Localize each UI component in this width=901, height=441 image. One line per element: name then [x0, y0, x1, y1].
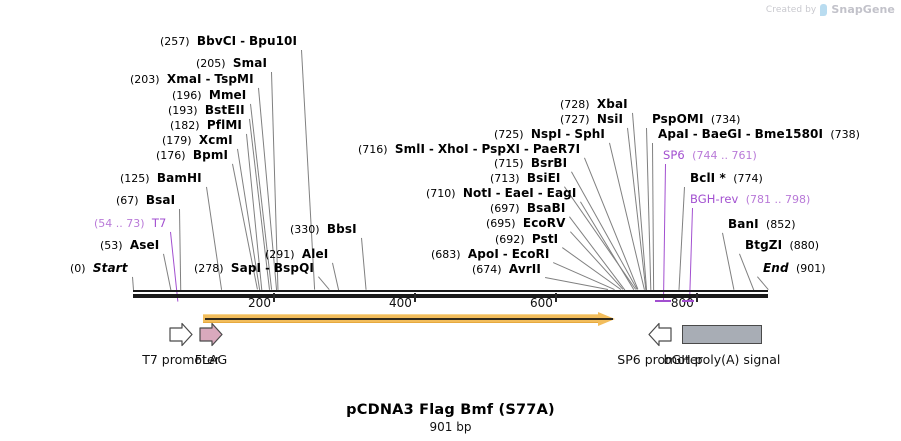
leader-line [132, 277, 134, 290]
enzyme-label-asei[interactable]: (53) AseI [100, 239, 159, 252]
watermark-prefix: Created by [766, 5, 817, 15]
leader-line [361, 238, 367, 290]
enzyme-label-avrii[interactable]: (674) AvrII [472, 263, 541, 276]
feature-caption-bgh-polya: bGH poly(A) signal [664, 352, 781, 367]
enzyme-label-nspi[interactable]: (725) NspI - SphI [494, 128, 605, 141]
ruler-tick-400 [414, 293, 417, 302]
feature-glyph-flag[interactable] [199, 322, 223, 351]
orf-centerline [205, 318, 613, 320]
enzyme-label-noti[interactable]: (710) NotI - EaeI - EagI [426, 187, 576, 200]
leader-line [652, 143, 654, 290]
enzyme-label-bamhi[interactable]: (125) BamHI [120, 172, 202, 185]
enzyme-label-ecorv[interactable]: (695) EcoRV [486, 217, 566, 230]
feature-leader-line [689, 208, 693, 302]
enzyme-label-sapi[interactable]: (278) SapI - BspQI [194, 262, 314, 275]
feature-glyph-t7-promoter[interactable] [169, 322, 193, 351]
feature-glyph-bgh-polya[interactable] [682, 325, 762, 344]
feature-leader-line [663, 164, 666, 302]
enzyme-label-bcli[interactable]: BclI * (774) [690, 172, 763, 185]
enzyme-label-start[interactable]: (0) Start [70, 262, 128, 275]
feature-label-sp6[interactable]: SP6 (744 .. 761) [663, 149, 757, 162]
snapgene-linear-map: Created by SnapGene (257) BbvCI - Bpu10I… [0, 0, 901, 441]
leader-line [739, 254, 754, 290]
ruler-tick-label-800: 800 [671, 296, 696, 310]
enzyme-label-xmai[interactable]: (203) XmaI - TspMI [130, 73, 254, 86]
sequence-length: 901 bp [0, 420, 901, 434]
ruler-tick-800 [696, 293, 699, 302]
enzyme-label-pflmi[interactable]: (182) PflMI [170, 119, 242, 132]
enzyme-label-pspomi[interactable]: PspOMI (734) [652, 113, 740, 126]
enzyme-label-bsabi[interactable]: (697) BsaBI [490, 202, 565, 215]
enzyme-label-btgzi[interactable]: BtgZI (880) [745, 239, 819, 252]
ruler-tick-600 [555, 293, 558, 302]
enzyme-label-bsrbi[interactable]: (715) BsrBI [494, 157, 567, 170]
enzyme-label-bbvci[interactable]: (257) BbvCI - Bpu10I [160, 35, 297, 48]
bgh-polya-rect [682, 325, 762, 344]
page-title: pCDNA3 Flag Bmf (S77A) [0, 402, 901, 418]
feature-caption-flag: FLAG [195, 352, 227, 367]
enzyme-label-bsai[interactable]: (67) BsaI [116, 194, 175, 207]
ruler-tick-200 [273, 293, 276, 302]
enzyme-label-alei[interactable]: (291) AleI [265, 248, 328, 261]
sp6-featuremark [655, 300, 671, 302]
enzyme-label-bani[interactable]: BanI (852) [728, 218, 796, 231]
orf-arrow [203, 314, 615, 323]
leader-line [678, 187, 685, 290]
leader-line [646, 128, 651, 290]
enzyme-label-nsii[interactable]: (727) NsiI [560, 113, 623, 126]
ruler-tick-label-400: 400 [389, 296, 414, 310]
ruler-tick-label-200: 200 [248, 296, 273, 310]
enzyme-label-smai[interactable]: (205) SmaI [196, 57, 267, 70]
backbone-upper-line [133, 290, 768, 292]
enzyme-label-psti[interactable]: (692) PstI [495, 233, 558, 246]
ruler-tick-label-600: 600 [530, 296, 555, 310]
enzyme-label-bsteii[interactable]: (193) BstEII [168, 104, 245, 117]
enzyme-label-smli[interactable]: (716) SmlI - XhoI - PspXI - PaeR7I [358, 143, 580, 156]
leader-line [632, 113, 647, 290]
enzyme-label-bpmi[interactable]: (176) BpmI [156, 149, 228, 162]
feature-label-t7[interactable]: (54 .. 73) T7 [94, 217, 166, 230]
feature-glyph-sp6-promoter[interactable] [648, 322, 672, 351]
leader-line [332, 263, 339, 290]
leader-line [179, 209, 181, 290]
enzyme-label-apai[interactable]: ApaI - BaeGI - Bme1580I (738) [658, 128, 860, 141]
enzyme-label-xcmi[interactable]: (179) XcmI [162, 134, 233, 147]
leader-line [757, 276, 769, 290]
enzyme-label-apoi[interactable]: (683) ApoI - EcoRI [431, 248, 549, 261]
enzyme-label-mmei[interactable]: (196) MmeI [172, 89, 246, 102]
enzyme-label-end[interactable]: End (901) [763, 262, 826, 275]
leader-line [163, 254, 171, 290]
enzyme-label-xbai[interactable]: (728) XbaI [560, 98, 628, 111]
snapgene-watermark: Created by SnapGene [766, 3, 895, 16]
snapgene-logo-icon [820, 4, 827, 16]
leader-line [318, 276, 330, 290]
feature-label-bghrev[interactable]: BGH-rev (781 .. 798) [690, 193, 810, 206]
leader-line [722, 233, 734, 290]
bghrev-featuremark [682, 300, 694, 302]
enzyme-label-bsiei[interactable]: (713) BsiEI [490, 172, 560, 185]
snapgene-brand: SnapGene [831, 3, 895, 16]
enzyme-label-bbsi[interactable]: (330) BbsI [290, 223, 357, 236]
